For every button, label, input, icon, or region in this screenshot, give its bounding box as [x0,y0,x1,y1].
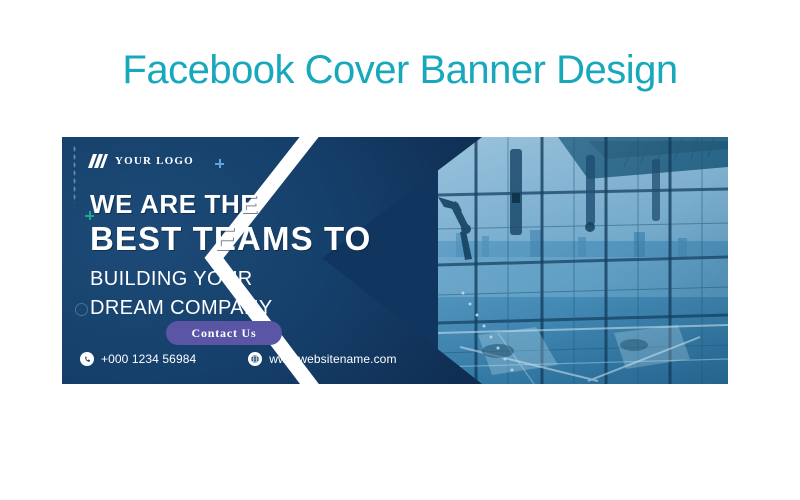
phone-icon [80,352,94,366]
dotted-line-decoration [73,145,76,203]
contact-phone[interactable]: +000 1234 56984 [80,352,196,366]
globe-icon [248,352,262,366]
three-slash-logo-icon [88,154,108,168]
logo-text: YOUR LOGO [115,155,194,167]
plus-decoration-blue [215,159,224,168]
headline-line-1: WE ARE THE [90,191,371,218]
headline-line-3: BUILDING YOUR [90,265,371,294]
contact-website[interactable]: www.websitename.com [248,352,396,366]
circle-outline-decoration [75,303,88,316]
headline-line-2: BEST TEAMS TO [90,220,371,258]
headline-block: WE ARE THE BEST TEAMS TO BUILDING YOUR D… [90,191,371,323]
page-title: Facebook Cover Banner Design [0,48,800,93]
website-url: www.websitename.com [269,352,396,366]
diagonal-dotted-decoration [457,287,527,384]
contact-us-button[interactable]: Contact Us [166,321,282,345]
phone-number: +000 1234 56984 [101,352,196,366]
headline-line-4: DREAM COMPANY [90,294,371,323]
brand-logo[interactable]: YOUR LOGO [88,154,194,168]
cover-banner: YOUR LOGO WE ARE THE BEST TEAMS TO BUILD… [62,137,728,384]
contact-strip: +000 1234 56984 www.websitename.com [80,352,397,366]
